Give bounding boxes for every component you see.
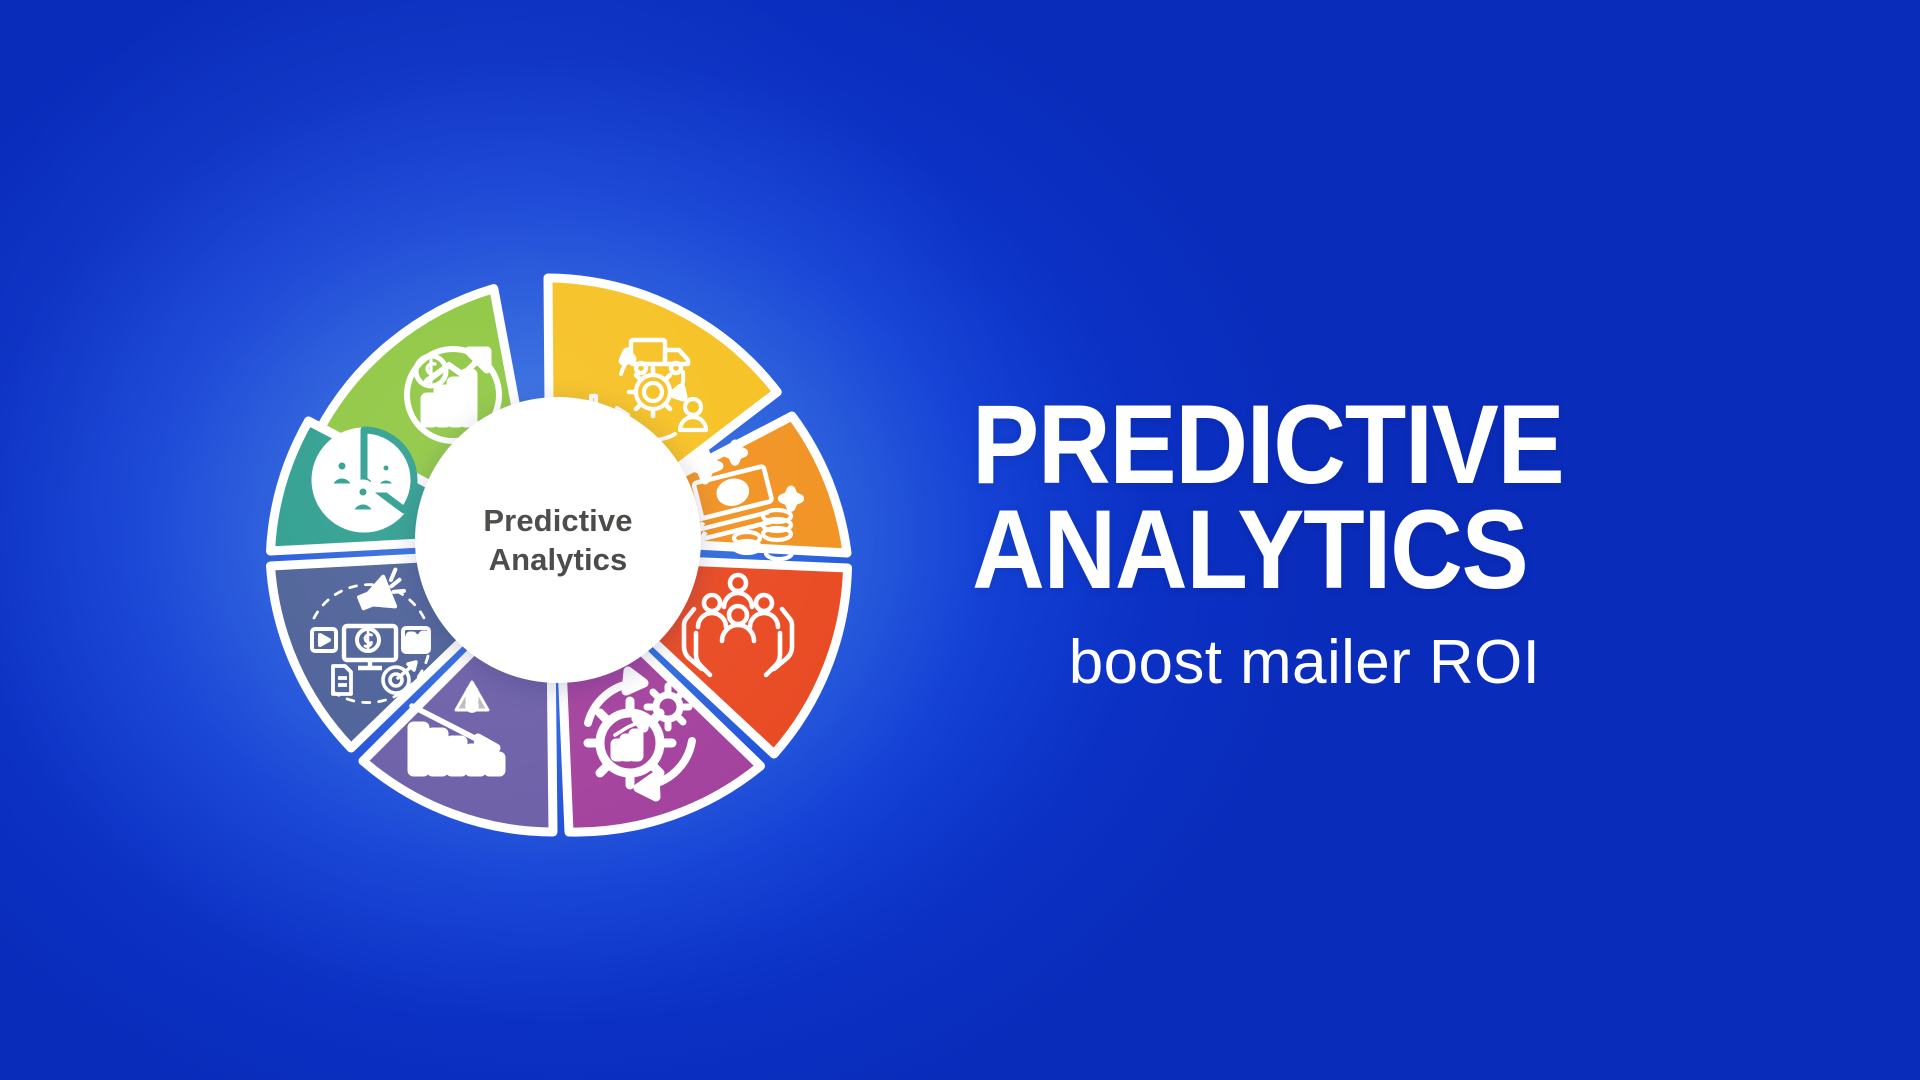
subtitle: boost mailer ROI [972, 627, 1637, 698]
hub-title-line-1: Predictive [483, 501, 632, 540]
hub-title-line-2: Analytics [483, 540, 632, 579]
page-title: PREDICTIVE ANALYTICS [972, 392, 1629, 603]
headline-line-2: ANALYTICS [972, 497, 1629, 602]
hub-title: Predictive Analytics [483, 501, 632, 579]
predictive-analytics-wheel: Ad [188, 170, 928, 910]
wheel-hub: Predictive Analytics [415, 397, 701, 683]
headline-block: PREDICTIVE ANALYTICS boost mailer ROI [972, 392, 1702, 698]
poster-canvas: Ad [0, 0, 1920, 1080]
